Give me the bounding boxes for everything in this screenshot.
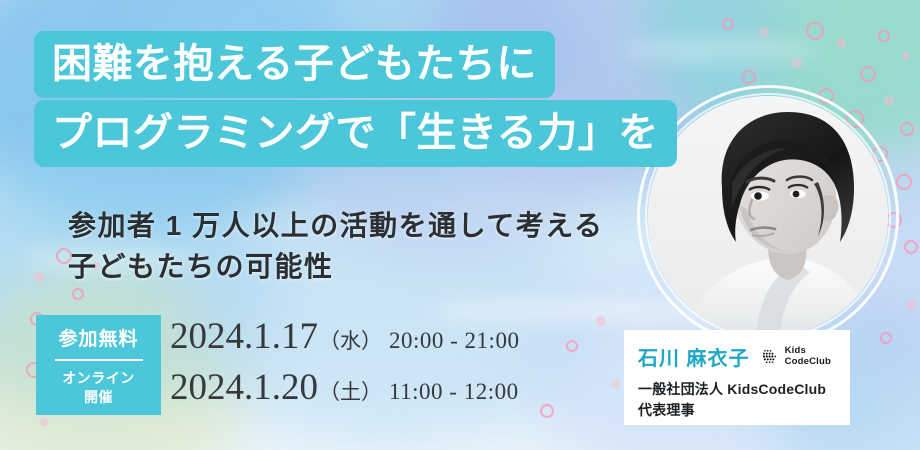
headline-line-2: プログラミングで「生きる力」を: [34, 100, 677, 167]
headline-line-1: 困難を抱える子どもたちに: [34, 31, 555, 98]
schedule-date: 2024.1.20: [170, 369, 318, 406]
logo-line-2: CodeClub: [785, 357, 831, 368]
speaker-role: 代表理事: [638, 400, 836, 421]
speaker-organization: 一般社団法人 KidsCodeClub: [638, 379, 836, 400]
dot-matrix-icon: [762, 347, 781, 366]
badge-free-label: 参加無料: [58, 324, 138, 351]
speaker-card: 石川 麻衣子 Kids CodeClub 一般社団法人: [624, 330, 850, 425]
speaker-header: 石川 麻衣子 Kids CodeClub: [638, 342, 836, 371]
kidscodeclub-logo: Kids CodeClub: [762, 346, 831, 367]
logo-line-1: Kids: [785, 346, 831, 357]
decorative-dot: [72, 288, 84, 300]
decorative-dot: [596, 316, 606, 326]
schedule-item: 2024.1.20 （土） 11:00 - 12:00: [170, 369, 519, 406]
speaker-affiliation: 一般社団法人 KidsCodeClub 代表理事: [638, 379, 836, 421]
decorative-dot: [566, 340, 578, 352]
decorative-dot: [612, 380, 620, 388]
badge-format-label: オンライン 開催: [62, 369, 135, 407]
schedule-day-of-week: （水）: [319, 331, 382, 352]
badge-format-line-1: オンライン: [62, 370, 135, 386]
decorative-dot: [906, 300, 916, 310]
logo-wordmark: Kids CodeClub: [785, 346, 831, 367]
decorative-dot: [34, 272, 44, 282]
webinar-banner: 困難を抱える子どもたちに プログラミングで「生きる力」を 参加者 1 万人以上の…: [0, 0, 920, 450]
decorative-dot: [40, 418, 48, 426]
schedule-day-of-week: （土）: [319, 382, 382, 403]
schedule-item: 2024.1.17 （水） 20:00 - 21:00: [170, 318, 519, 355]
speaker-name: 石川 麻衣子: [638, 342, 750, 371]
subtitle-line-2: 子どもたちの可能性: [68, 246, 603, 287]
schedule-time: 20:00 - 21:00: [389, 329, 519, 352]
event-badge: 参加無料 オンライン 開催: [36, 315, 161, 415]
badge-format-line-2: 開催: [84, 389, 113, 405]
subtitle-line-1: 参加者 1 万人以上の活動を通して考える: [68, 205, 603, 246]
headline: 困難を抱える子どもたちに プログラミングで「生きる力」を: [34, 31, 920, 167]
schedule-date: 2024.1.17: [170, 318, 318, 355]
schedule-time: 11:00 - 12:00: [389, 380, 519, 403]
decorative-dot: [540, 404, 554, 418]
schedule-list: 2024.1.17 （水） 20:00 - 21:00 2024.1.20 （土…: [170, 318, 519, 406]
badge-divider: [55, 359, 143, 361]
decorative-dot: [722, 18, 734, 30]
decorative-dot: [904, 240, 918, 254]
subtitle: 参加者 1 万人以上の活動を通して考える 子どもたちの可能性: [68, 205, 603, 288]
